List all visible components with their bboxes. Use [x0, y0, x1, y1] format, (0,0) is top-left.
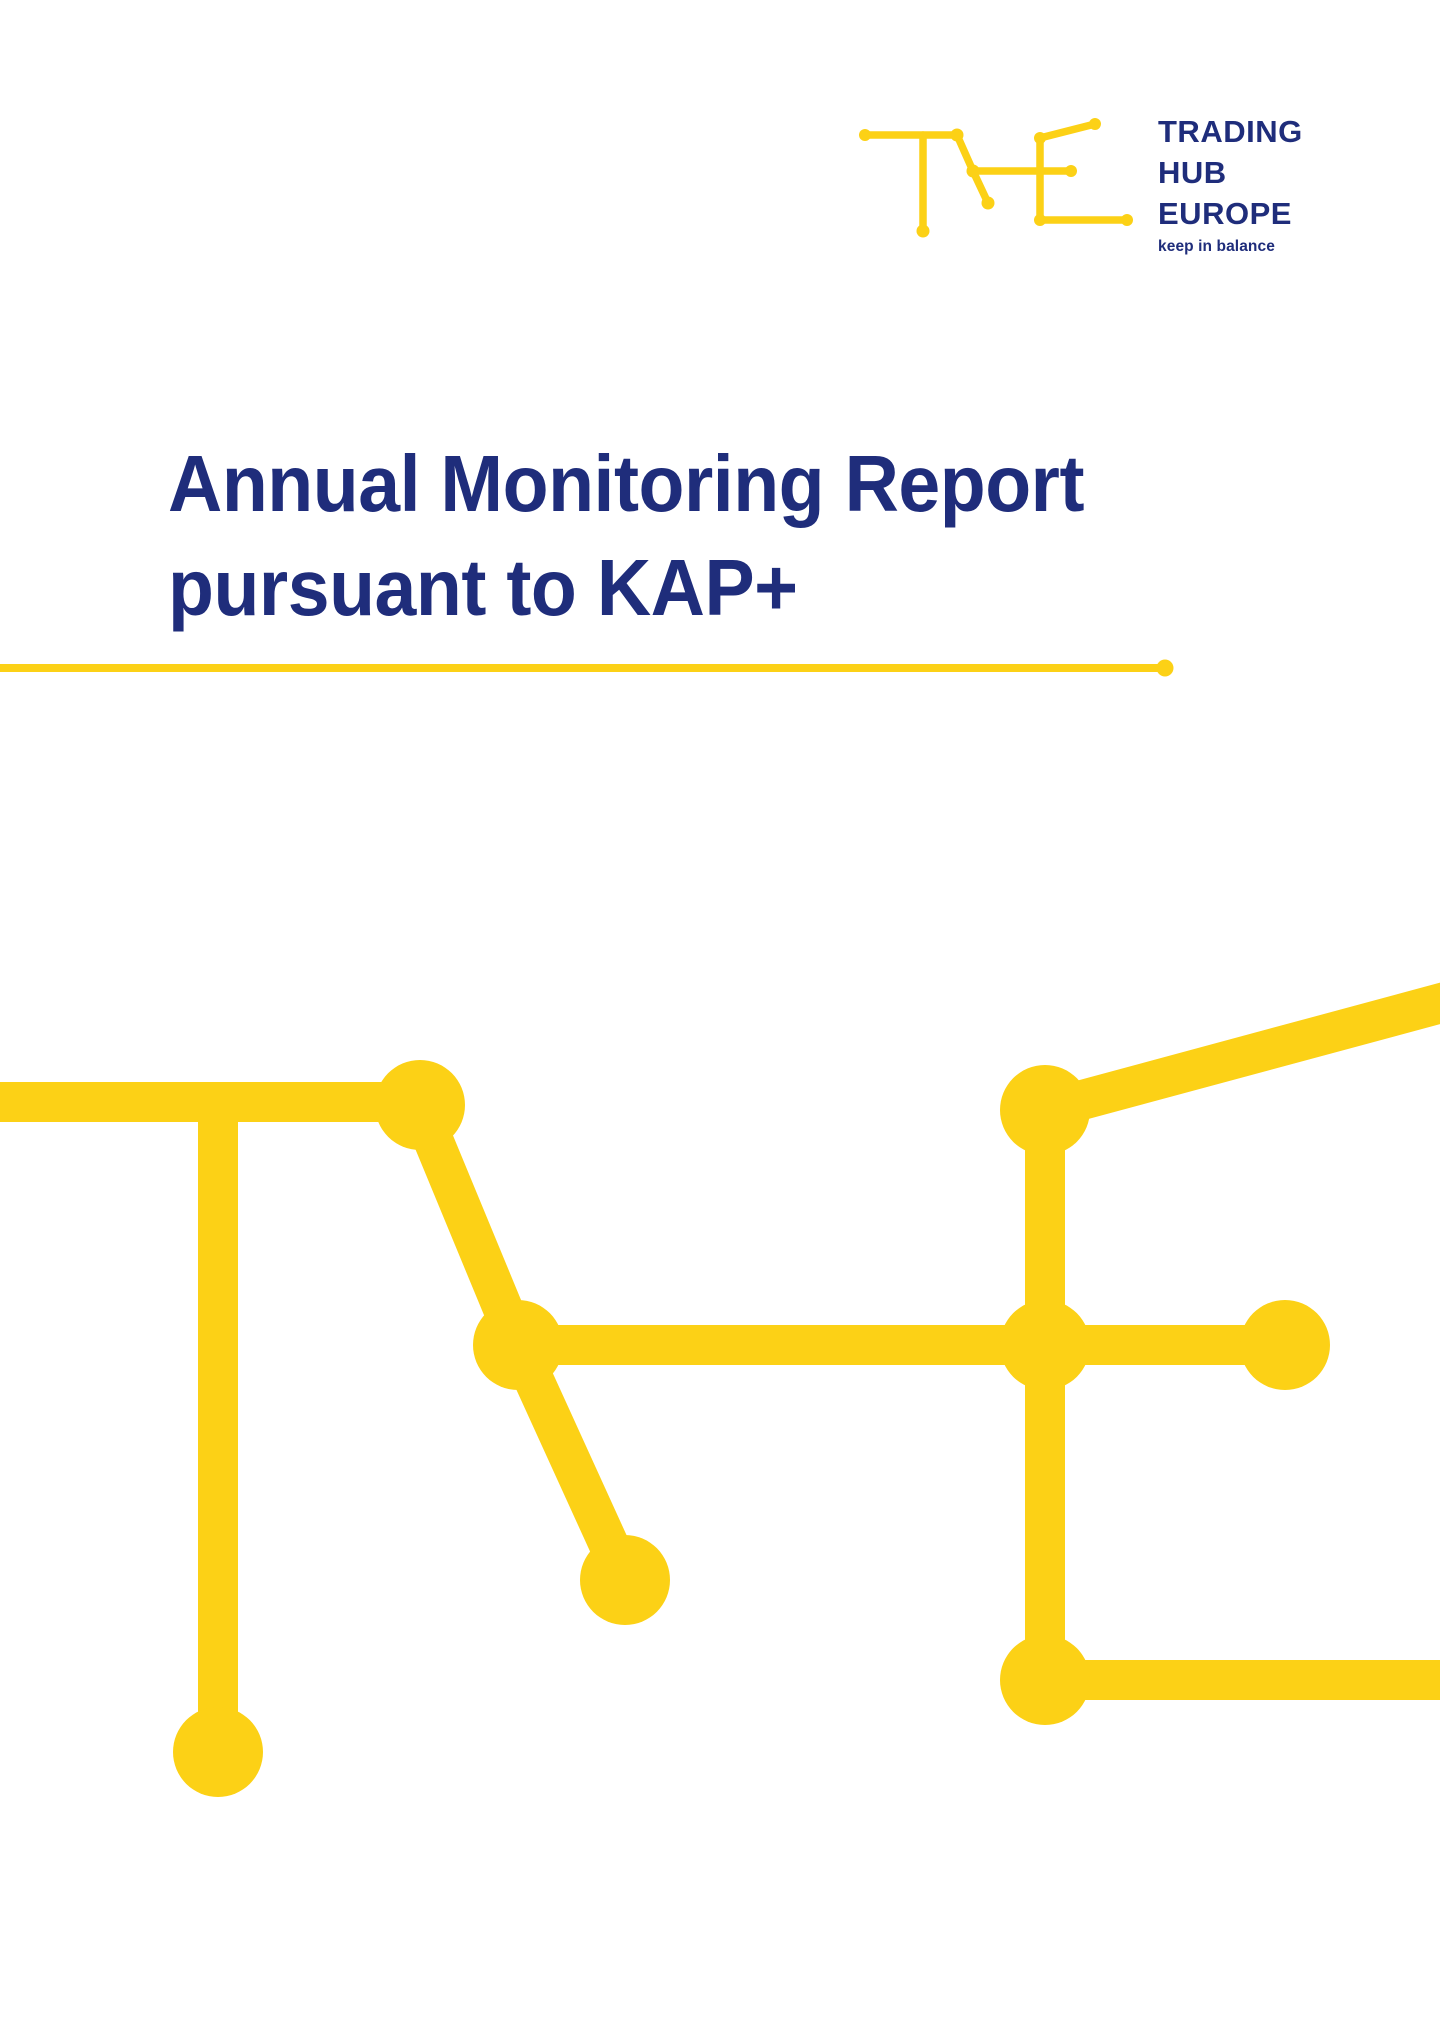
logo-wordmark: TRADING HUB EUROPE keep in balance	[1158, 108, 1303, 255]
the-monogram-graphic	[0, 960, 1440, 1820]
page-title: Annual Monitoring Report pursuant to KAP…	[168, 432, 1248, 640]
logo-word-trading: TRADING	[1158, 116, 1303, 147]
the-network-monogram-icon	[855, 108, 1140, 256]
logo-word-europe: EUROPE	[1158, 198, 1303, 229]
logo-word-hub: HUB	[1158, 157, 1303, 188]
page-title-line-2: pursuant to KAP+	[168, 536, 1183, 640]
document-cover-page: TRADING HUB EUROPE keep in balance Annua…	[0, 0, 1440, 2038]
logo-tagline: keep in balance	[1158, 239, 1303, 255]
title-underline-rule	[0, 656, 1180, 680]
page-title-line-1: Annual Monitoring Report	[168, 432, 1183, 536]
trading-hub-europe-logo: TRADING HUB EUROPE keep in balance	[855, 108, 1345, 258]
